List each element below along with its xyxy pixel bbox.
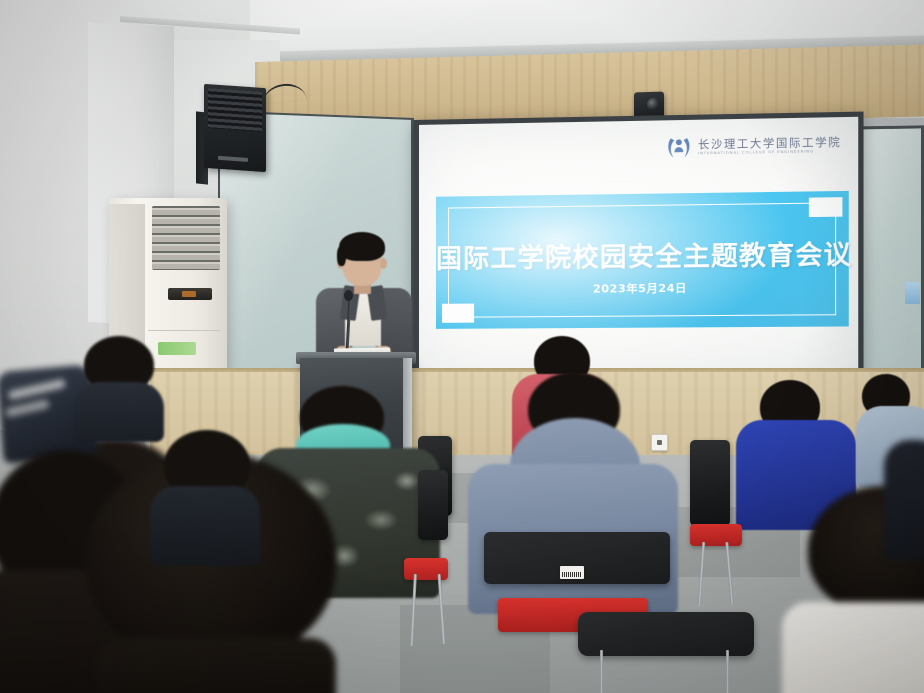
chair-back <box>418 470 448 540</box>
logo-org-cn: 长沙理工大学国际工学院 <box>698 136 841 150</box>
presenter-ear-right <box>380 258 387 269</box>
chair-seat[interactable] <box>404 558 448 580</box>
chair[interactable] <box>418 470 448 540</box>
air-conditioner-display <box>168 288 212 300</box>
microphone-icon <box>344 290 353 301</box>
desk-leg <box>726 650 729 693</box>
torso <box>96 638 336 693</box>
attendee-dark-foreground <box>150 430 260 550</box>
slide-date: 2023年5月24日 <box>436 278 849 298</box>
presenter <box>312 228 416 360</box>
chair-seat[interactable] <box>690 524 742 546</box>
desk-leg <box>600 650 603 693</box>
torso <box>782 602 924 693</box>
wall-speaker-icon <box>204 84 266 172</box>
slide-logo: 长沙理工大学国际工学院 INTERNATIONAL COLLEGE OF ENG… <box>665 131 841 161</box>
backpack-strap <box>5 399 50 418</box>
banner-notch-bottom-left <box>442 304 474 323</box>
university-emblem-icon <box>665 134 692 161</box>
attendee-dark-foreground <box>74 336 164 426</box>
speaker-badge <box>218 156 248 162</box>
conference-room-photo: 长沙理工大学国际工学院 INTERNATIONAL COLLEGE OF ENG… <box>0 0 924 693</box>
camera-lens <box>647 98 660 111</box>
air-conditioner-energy-label <box>905 282 920 304</box>
attendee-dark-foreground <box>884 440 924 560</box>
slide-logo-text: 长沙理工大学国际工学院 INTERNATIONAL COLLEGE OF ENG… <box>698 136 841 155</box>
slide-banner: 国际工学院校园安全主题教育会议 2023年5月24日 <box>436 191 849 329</box>
backpack-strap <box>8 378 67 400</box>
air-conditioner-vents <box>152 206 220 270</box>
presenter-hair <box>339 232 385 261</box>
speaker-grille <box>208 88 262 132</box>
torso <box>150 486 260 566</box>
logo-org-en: INTERNATIONAL COLLEGE OF ENGINEERING <box>698 150 841 156</box>
chair-back <box>690 440 730 526</box>
slide-title: 国际工学院校园安全主题教育会议 <box>436 234 849 276</box>
chair-label-tag <box>560 566 584 579</box>
air-conditioner-seam <box>148 330 220 331</box>
banner-notch-top-right <box>809 197 843 217</box>
projection-screen: 长沙理工大学国际工学院 INTERNATIONAL COLLEGE OF ENG… <box>414 112 864 388</box>
torso <box>884 440 924 560</box>
chair[interactable] <box>690 440 730 526</box>
